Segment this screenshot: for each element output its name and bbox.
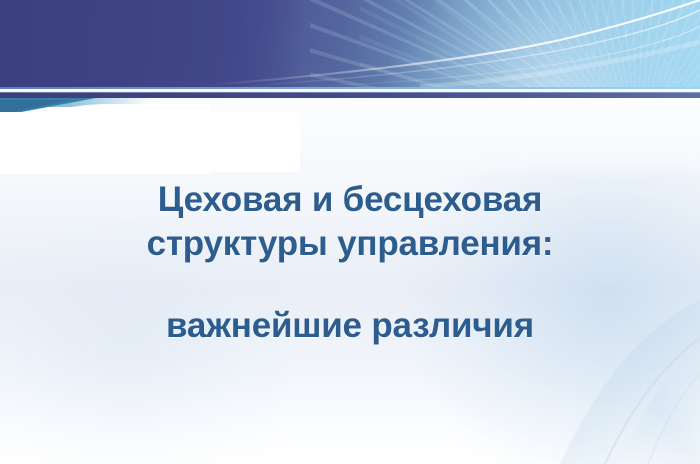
slide-title-line-2: структуры управления: bbox=[0, 222, 700, 266]
presentation-slide: Цеховая и бесцеховая структуры управлени… bbox=[0, 0, 700, 464]
header-banner bbox=[0, 0, 700, 87]
slide-subtitle-line-1: важнейшие различия bbox=[0, 304, 700, 348]
header-glow bbox=[380, 0, 680, 87]
radiating-rays-secondary-icon bbox=[360, 0, 690, 87]
slide-title-line-1: Цеховая и бесцеховая bbox=[0, 178, 700, 222]
header-dark-plateau bbox=[0, 0, 300, 87]
radiating-rays-icon bbox=[310, 0, 700, 87]
slide-title-block: Цеховая и бесцеховая структуры управлени… bbox=[0, 178, 700, 348]
separator-navy-highlight bbox=[0, 92, 700, 93]
corner-shoulder-fill bbox=[0, 112, 300, 172]
title-subtitle-gap bbox=[0, 266, 700, 304]
